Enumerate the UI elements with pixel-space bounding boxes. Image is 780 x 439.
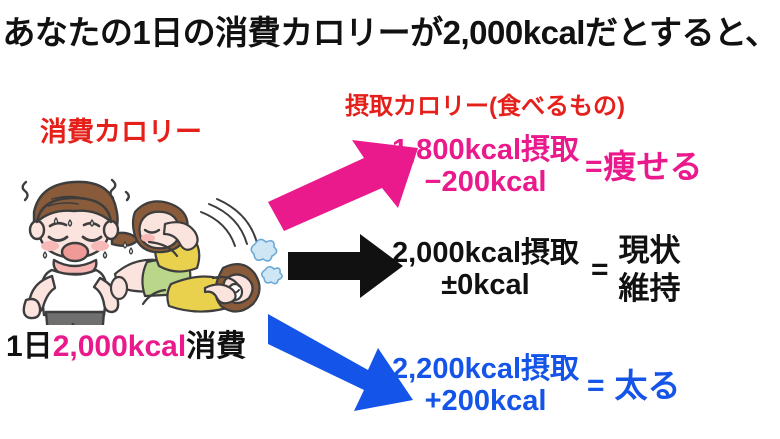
intake-amount-maintain: 2,000kcal摂取 ±0kcal <box>392 239 579 300</box>
outcome-line-2: 維持 <box>619 270 681 308</box>
daily-burn-total: 1日2,000kcal消費 <box>6 321 246 365</box>
result-row-lose: 1,800kcal摂取 −200kcal = 痩せる <box>392 136 703 197</box>
outcome-line-1: 現状 <box>619 232 681 270</box>
intake-line-1: 2,200kcal摂取 <box>392 355 579 385</box>
equals-sign-lose: = <box>585 152 603 182</box>
outcome-line-1: 太る <box>615 369 681 403</box>
outcome-gain: 太る <box>615 369 681 403</box>
intake-line-2: ±0kcal <box>441 271 530 301</box>
result-row-maintain: 2,000kcal摂取 ±0kcal = 現状 維持 <box>392 232 681 308</box>
page-title: あなたの1日の消費カロリーが2,000kcalだとすると、 <box>0 6 780 54</box>
situp-people-illustration <box>105 196 290 326</box>
intake-line-2: −200kcal <box>425 168 547 198</box>
outcome-maintain: 現状 維持 <box>619 232 681 308</box>
intake-calories-caption: 摂取カロリー(食べるもの) <box>345 86 625 121</box>
burn-total-prefix: 1日 <box>6 330 53 363</box>
equals-sign-maintain: = <box>591 255 609 285</box>
equals-sign-gain: = <box>587 371 605 401</box>
intake-line-1: 1,800kcal摂取 <box>392 136 579 166</box>
outcome-lose: 痩せる <box>604 150 703 184</box>
burn-total-suffix: 消費 <box>186 330 246 363</box>
result-row-gain: 2,200kcal摂取 +200kcal = 太る <box>392 355 681 416</box>
burn-total-amount: 2,000kcal <box>53 330 186 363</box>
outcome-line-1: 痩せる <box>604 150 703 184</box>
intake-amount-lose: 1,800kcal摂取 −200kcal <box>392 136 579 197</box>
intake-line-2: +200kcal <box>425 387 547 417</box>
infographic-canvas: あなたの1日の消費カロリーが2,000kcalだとすると、 消費カロリー 摂取カ… <box>0 0 780 439</box>
intake-amount-gain: 2,200kcal摂取 +200kcal <box>392 355 579 416</box>
intake-line-1: 2,000kcal摂取 <box>392 239 579 269</box>
burn-calories-caption: 消費カロリー <box>40 110 202 149</box>
arrow-right-icon <box>288 234 403 298</box>
